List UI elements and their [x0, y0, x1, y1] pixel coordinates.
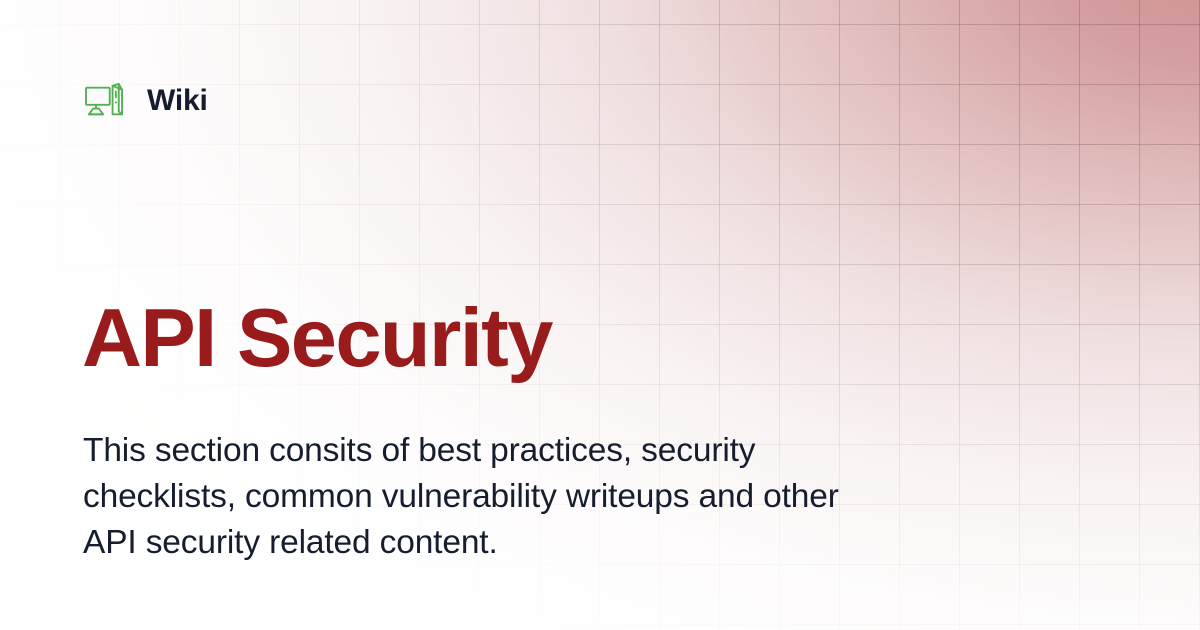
desktop-computer-icon — [84, 83, 126, 119]
page-title: API Security — [82, 296, 552, 379]
banner-content: Wiki API Security This section consits o… — [0, 0, 1200, 630]
brand-header[interactable]: Wiki — [84, 79, 208, 123]
brand-label: Wiki — [147, 86, 208, 116]
og-banner-card: Wiki API Security This section consits o… — [0, 0, 1200, 630]
page-description: This section consits of best practices, … — [83, 428, 843, 567]
